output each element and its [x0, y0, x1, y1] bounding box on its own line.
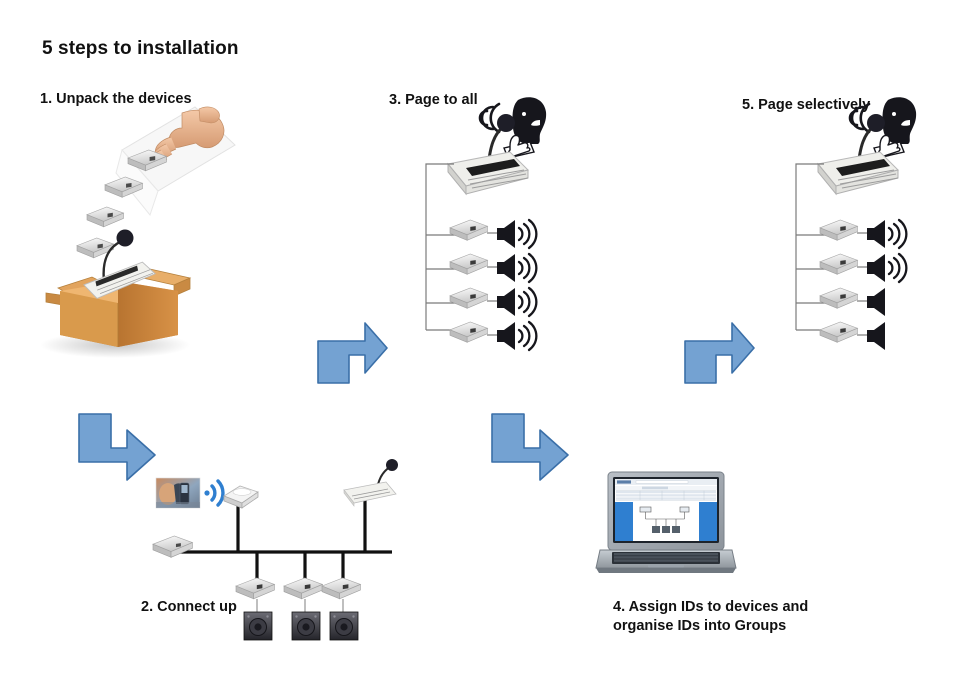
wireless-access-point	[224, 486, 258, 508]
device-speaker-group	[284, 578, 322, 640]
horn-speaker-icon	[497, 288, 536, 316]
horn-speaker-icon	[867, 220, 906, 248]
step-1-illustration	[30, 95, 240, 365]
page-title: 5 steps to installation	[42, 38, 239, 60]
horn-speaker-icon	[867, 254, 906, 282]
step-2-label: 2. Connect up	[141, 598, 237, 617]
speaker-sound-waves	[519, 254, 536, 282]
device-speaker-group	[236, 578, 274, 640]
horn-speaker-icon	[497, 254, 536, 282]
device-speaker-group	[322, 578, 360, 640]
cabinet-speaker	[244, 612, 272, 640]
arrow-1-to-2	[73, 408, 161, 486]
device-speaker-row	[450, 220, 536, 248]
horn-speaker-icon	[497, 220, 536, 248]
wifi-waves	[204, 481, 223, 505]
slide-canvas: 5 steps to installation 1. Unpack the de…	[0, 0, 959, 678]
arrow-3-to-4	[486, 408, 574, 486]
bus-tree	[796, 164, 828, 330]
arrow-2-to-3	[313, 317, 391, 389]
management-software-screen	[615, 479, 717, 541]
microphone-head	[117, 230, 134, 247]
bus-backbone-cable	[168, 500, 392, 584]
speaker-sound-waves	[519, 322, 536, 350]
paging-console	[344, 459, 398, 506]
device-speaker-row	[450, 322, 536, 350]
device-speaker-row	[820, 220, 906, 248]
microphone-head	[386, 459, 398, 471]
device-speaker-row	[820, 322, 885, 350]
speaker-sound-waves	[519, 220, 536, 248]
speaker-sound-waves	[889, 254, 906, 282]
device-speaker-row	[820, 288, 885, 316]
device-speaker-row	[450, 288, 536, 316]
arrow-4-to-5	[680, 317, 758, 389]
speaker-sound-waves	[889, 220, 906, 248]
bus-tree	[426, 164, 458, 330]
speaker-sound-waves	[519, 288, 536, 316]
step-3-illustration	[420, 92, 555, 354]
step-4-illustration	[596, 466, 736, 581]
cabinet-speaker	[292, 612, 320, 640]
step-2-illustration	[150, 452, 400, 647]
network-device	[153, 536, 192, 557]
device-speaker-row	[450, 254, 536, 282]
cabinet-speaker	[330, 612, 358, 640]
step-4-label: 4. Assign IDs to devices and organise ID…	[613, 598, 808, 636]
horn-speaker-icon	[867, 322, 885, 350]
microphone-head	[867, 114, 885, 132]
flying-device	[87, 207, 123, 227]
microphone-head	[497, 114, 515, 132]
device-speaker-row	[820, 254, 906, 282]
sound-waves	[850, 104, 869, 132]
sound-waves	[480, 104, 499, 132]
wireless-phone-photo	[156, 478, 200, 508]
horn-speaker-icon	[867, 288, 885, 316]
horn-speaker-icon	[497, 322, 536, 350]
step-5-illustration	[790, 92, 925, 354]
